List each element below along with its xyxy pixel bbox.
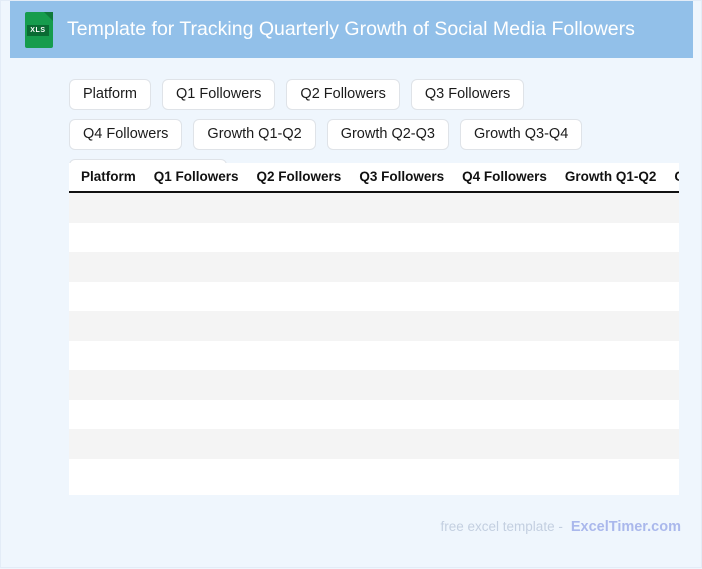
table-cell[interactable] [665, 311, 679, 341]
table-cell[interactable] [350, 192, 453, 223]
table-cell[interactable] [350, 370, 453, 400]
table-cell[interactable] [453, 341, 556, 371]
table-column-header[interactable]: Platform [69, 163, 145, 192]
column-tag[interactable]: Q2 Followers [286, 79, 399, 110]
table-cell[interactable] [69, 400, 145, 430]
table-cell[interactable] [248, 429, 351, 459]
table-cell[interactable] [665, 282, 679, 312]
table-cell[interactable] [69, 311, 145, 341]
table-cell[interactable] [145, 429, 248, 459]
table-cell[interactable] [248, 282, 351, 312]
table-cell[interactable] [69, 370, 145, 400]
footer-brand-link[interactable]: ExcelTimer.com [571, 519, 681, 535]
table-row [69, 252, 679, 282]
table-cell[interactable] [665, 341, 679, 371]
template-page: XLS Template for Tracking Quarterly Grow… [1, 1, 702, 569]
table-cell[interactable] [350, 400, 453, 430]
table-cell[interactable] [350, 223, 453, 253]
table-cell[interactable] [350, 311, 453, 341]
table-column-header[interactable]: Q3 Followers [350, 163, 453, 192]
table-row [69, 429, 679, 459]
table-column-header[interactable]: Growth Q2-Q3 [665, 163, 679, 192]
column-tag[interactable]: Q1 Followers [162, 79, 275, 110]
table-cell[interactable] [556, 223, 666, 253]
table-cell[interactable] [248, 192, 351, 223]
table-row [69, 192, 679, 223]
table-row [69, 370, 679, 400]
table-cell[interactable] [145, 341, 248, 371]
data-table-container: PlatformQ1 FollowersQ2 FollowersQ3 Follo… [69, 163, 679, 495]
column-tag[interactable]: Growth Q3-Q4 [460, 119, 582, 150]
xls-icon-label: XLS [27, 25, 49, 36]
table-cell[interactable] [248, 370, 351, 400]
table-cell[interactable] [69, 223, 145, 253]
table-cell[interactable] [145, 311, 248, 341]
table-cell[interactable] [350, 282, 453, 312]
table-cell[interactable] [69, 429, 145, 459]
table-cell[interactable] [665, 400, 679, 430]
table-cell[interactable] [248, 252, 351, 282]
table-cell[interactable] [69, 459, 145, 489]
table-cell[interactable] [145, 252, 248, 282]
table-cell[interactable] [350, 341, 453, 371]
table-cell[interactable] [556, 252, 666, 282]
table-cell[interactable] [453, 192, 556, 223]
footer-free-text: free excel template - [441, 519, 563, 534]
column-tag[interactable]: Q3 Followers [411, 79, 524, 110]
table-head: PlatformQ1 FollowersQ2 FollowersQ3 Follo… [69, 163, 679, 192]
table-column-header[interactable]: Q4 Followers [453, 163, 556, 192]
table-cell[interactable] [453, 282, 556, 312]
table-cell[interactable] [145, 400, 248, 430]
table-row [69, 400, 679, 430]
table-cell[interactable] [556, 429, 666, 459]
table-cell[interactable] [248, 400, 351, 430]
table-cell[interactable] [350, 459, 453, 489]
table-header-row: PlatformQ1 FollowersQ2 FollowersQ3 Follo… [69, 163, 679, 192]
page-header: XLS Template for Tracking Quarterly Grow… [10, 1, 693, 58]
table-cell[interactable] [69, 192, 145, 223]
data-table: PlatformQ1 FollowersQ2 FollowersQ3 Follo… [69, 163, 679, 488]
table-cell[interactable] [453, 459, 556, 489]
page-title: Template for Tracking Quarterly Growth o… [67, 19, 635, 40]
table-cell[interactable] [453, 429, 556, 459]
table-cell[interactable] [453, 370, 556, 400]
table-column-header[interactable]: Q2 Followers [248, 163, 351, 192]
table-row [69, 459, 679, 489]
column-tag[interactable]: Growth Q2-Q3 [327, 119, 449, 150]
table-cell[interactable] [665, 429, 679, 459]
table-cell[interactable] [69, 282, 145, 312]
table-body [69, 192, 679, 488]
column-tag[interactable]: Platform [69, 79, 151, 110]
table-column-header[interactable]: Growth Q1-Q2 [556, 163, 666, 192]
table-cell[interactable] [248, 341, 351, 371]
table-cell[interactable] [665, 252, 679, 282]
table-row [69, 311, 679, 341]
table-cell[interactable] [248, 459, 351, 489]
table-cell[interactable] [145, 192, 248, 223]
column-tag[interactable]: Growth Q1-Q2 [193, 119, 315, 150]
table-cell[interactable] [665, 370, 679, 400]
table-row [69, 341, 679, 371]
table-cell[interactable] [69, 341, 145, 371]
table-cell[interactable] [556, 400, 666, 430]
table-cell[interactable] [665, 192, 679, 223]
table-cell[interactable] [556, 459, 666, 489]
table-cell[interactable] [453, 252, 556, 282]
table-cell[interactable] [453, 311, 556, 341]
table-cell[interactable] [556, 192, 666, 223]
table-cell[interactable] [350, 429, 453, 459]
xls-file-icon: XLS [25, 12, 53, 48]
table-cell[interactable] [556, 341, 666, 371]
table-column-header[interactable]: Q1 Followers [145, 163, 248, 192]
table-cell[interactable] [248, 311, 351, 341]
table-cell[interactable] [145, 370, 248, 400]
table-cell[interactable] [69, 252, 145, 282]
table-cell[interactable] [350, 252, 453, 282]
table-row [69, 282, 679, 312]
table-cell[interactable] [556, 311, 666, 341]
table-cell[interactable] [145, 459, 248, 489]
footer: free excel template - ExcelTimer.com [441, 519, 681, 535]
table-cell[interactable] [453, 223, 556, 253]
table-cell[interactable] [556, 282, 666, 312]
table-row [69, 223, 679, 253]
table-cell[interactable] [665, 459, 679, 489]
table-cell[interactable] [453, 400, 556, 430]
column-tag[interactable]: Q4 Followers [69, 119, 182, 150]
table-cell[interactable] [145, 282, 248, 312]
table-cell[interactable] [248, 223, 351, 253]
table-cell[interactable] [556, 370, 666, 400]
xls-icon-fold [44, 12, 53, 21]
table-cell[interactable] [665, 223, 679, 253]
table-cell[interactable] [145, 223, 248, 253]
